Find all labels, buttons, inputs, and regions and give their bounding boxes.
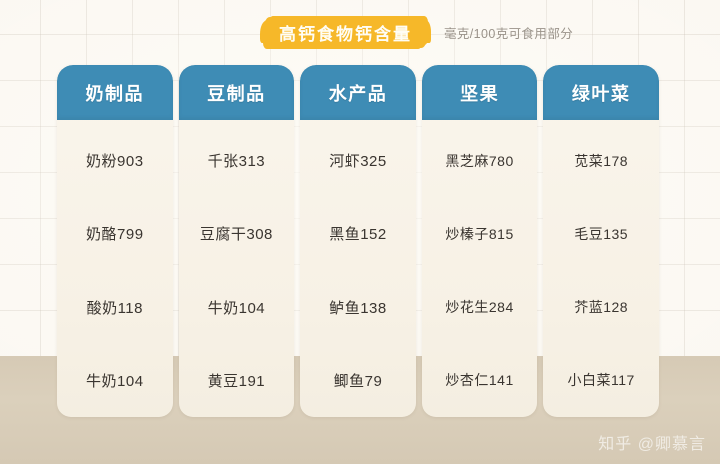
column-soy: 豆制品 千张313 豆腐干308 牛奶104 黄豆191 — [179, 65, 295, 417]
table-row: 河虾325 — [300, 124, 416, 197]
column-body-soy: 千张313 豆腐干308 牛奶104 黄豆191 — [179, 120, 295, 417]
table-row: 千张313 — [179, 124, 295, 197]
unit-subtitle: 毫克/100克可食用部分 — [444, 23, 573, 42]
page-title: 高钙食物钙含量 — [279, 20, 412, 45]
column-header-label: 豆制品 — [207, 80, 266, 106]
column-seafood: 水产品 河虾325 黑鱼152 鲈鱼138 鲫鱼79 — [300, 65, 416, 417]
column-leafy-greens: 绿叶菜 苋菜178 毛豆135 芥蓝128 小白菜117 — [543, 65, 659, 417]
table-row: 炒杏仁141 — [422, 344, 538, 417]
column-header-soy: 豆制品 — [179, 65, 295, 120]
column-nuts: 坚果 黑芝麻780 炒榛子815 炒花生284 炒杏仁141 — [422, 65, 538, 417]
table-row: 小白菜117 — [543, 344, 659, 417]
table-row: 鲫鱼79 — [300, 344, 416, 417]
table-row: 毛豆135 — [543, 197, 659, 270]
column-header-label: 坚果 — [460, 80, 499, 106]
column-header-nuts: 坚果 — [422, 65, 538, 120]
column-body-dairy: 奶粉903 奶酪799 酸奶118 牛奶104 — [57, 120, 173, 417]
column-body-nuts: 黑芝麻780 炒榛子815 炒花生284 炒杏仁141 — [422, 120, 538, 417]
table-row: 牛奶104 — [57, 344, 173, 417]
column-dairy: 奶制品 奶粉903 奶酪799 酸奶118 牛奶104 — [57, 65, 173, 417]
table-row: 黑芝麻780 — [422, 124, 538, 197]
table-row: 奶粉903 — [57, 124, 173, 197]
table-row: 炒榛子815 — [422, 197, 538, 270]
column-body-leafy-greens: 苋菜178 毛豆135 芥蓝128 小白菜117 — [543, 120, 659, 417]
title-area: 高钙食物钙含量 毫克/100克可食用部分 — [265, 12, 573, 52]
column-body-seafood: 河虾325 黑鱼152 鲈鱼138 鲫鱼79 — [300, 120, 416, 417]
title-banner: 高钙食物钙含量 — [265, 17, 426, 48]
table-row: 苋菜178 — [543, 124, 659, 197]
table-row: 酸奶118 — [57, 271, 173, 344]
watermark: 知乎 @卿慕言 — [598, 430, 706, 454]
column-header-label: 绿叶菜 — [572, 80, 631, 106]
table-row: 鲈鱼138 — [300, 271, 416, 344]
category-columns: 奶制品 奶粉903 奶酪799 酸奶118 牛奶104 豆制品 千张313 豆腐… — [57, 65, 659, 417]
table-row: 芥蓝128 — [543, 271, 659, 344]
table-row: 牛奶104 — [179, 271, 295, 344]
column-header-dairy: 奶制品 — [57, 65, 173, 120]
table-row: 炒花生284 — [422, 271, 538, 344]
calcium-foods-infographic: 高钙食物钙含量 毫克/100克可食用部分 奶制品 奶粉903 奶酪799 酸奶1… — [0, 0, 720, 464]
table-row: 奶酪799 — [57, 197, 173, 270]
column-header-label: 奶制品 — [86, 80, 145, 106]
table-row: 黑鱼152 — [300, 197, 416, 270]
column-header-label: 水产品 — [329, 80, 388, 106]
column-header-leafy-greens: 绿叶菜 — [543, 65, 659, 120]
table-row: 豆腐干308 — [179, 197, 295, 270]
column-header-seafood: 水产品 — [300, 65, 416, 120]
table-row: 黄豆191 — [179, 344, 295, 417]
